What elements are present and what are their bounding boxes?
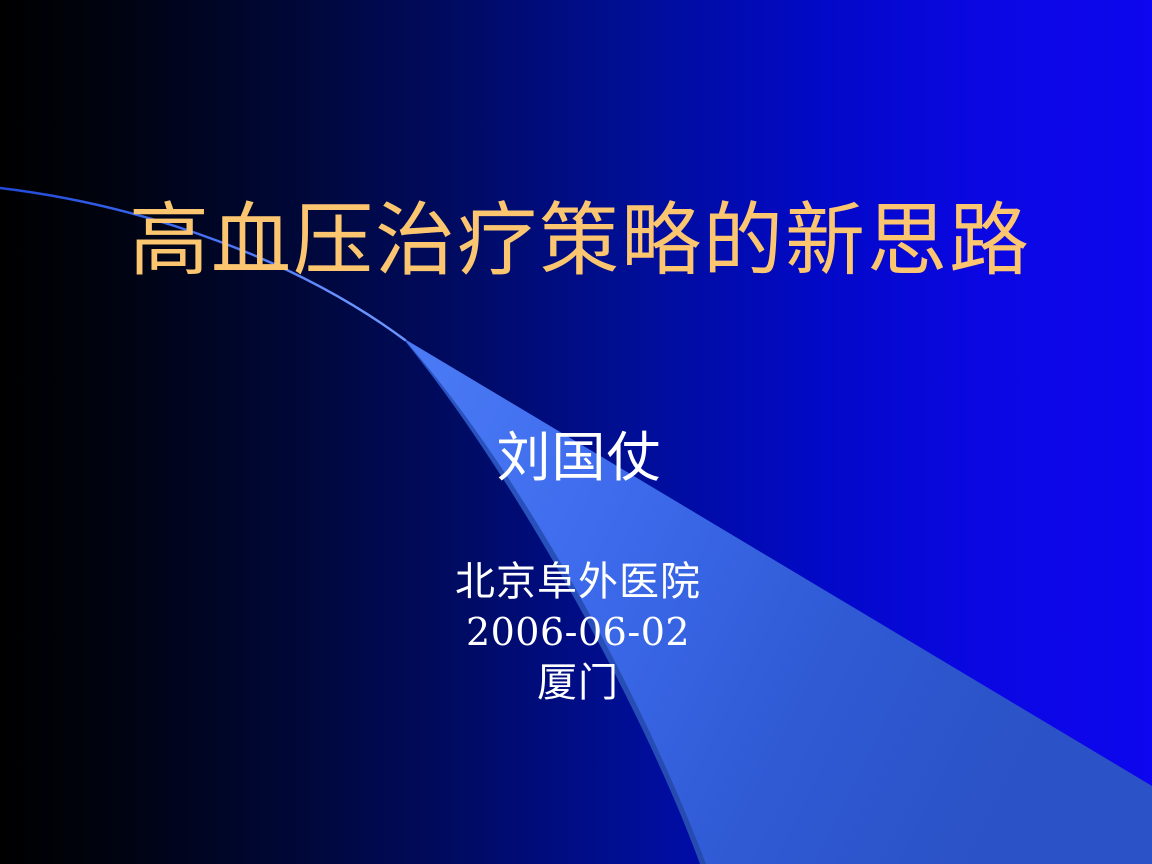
author-name: 刘国仗	[497, 428, 662, 487]
presentation-date: 2006-06-02	[4, 608, 1152, 657]
affiliation-block: 北京阜外医院 2006-06-02 厦门	[0, 556, 1152, 709]
presentation-slide: 高血压治疗策略的新思路 刘国仗 北京阜外医院 2006-06-02 厦门	[0, 0, 1152, 864]
author-block: 刘国仗	[0, 428, 1152, 487]
title-block: 高血压治疗策略的新思路	[0, 196, 1152, 286]
slide-text-layer: 高血压治疗策略的新思路 刘国仗 北京阜外医院 2006-06-02 厦门	[0, 0, 1152, 864]
affiliation-name: 北京阜外医院	[4, 556, 1152, 608]
page-title: 高血压治疗策略的新思路	[129, 196, 1031, 286]
presentation-location: 厦门	[4, 657, 1152, 709]
